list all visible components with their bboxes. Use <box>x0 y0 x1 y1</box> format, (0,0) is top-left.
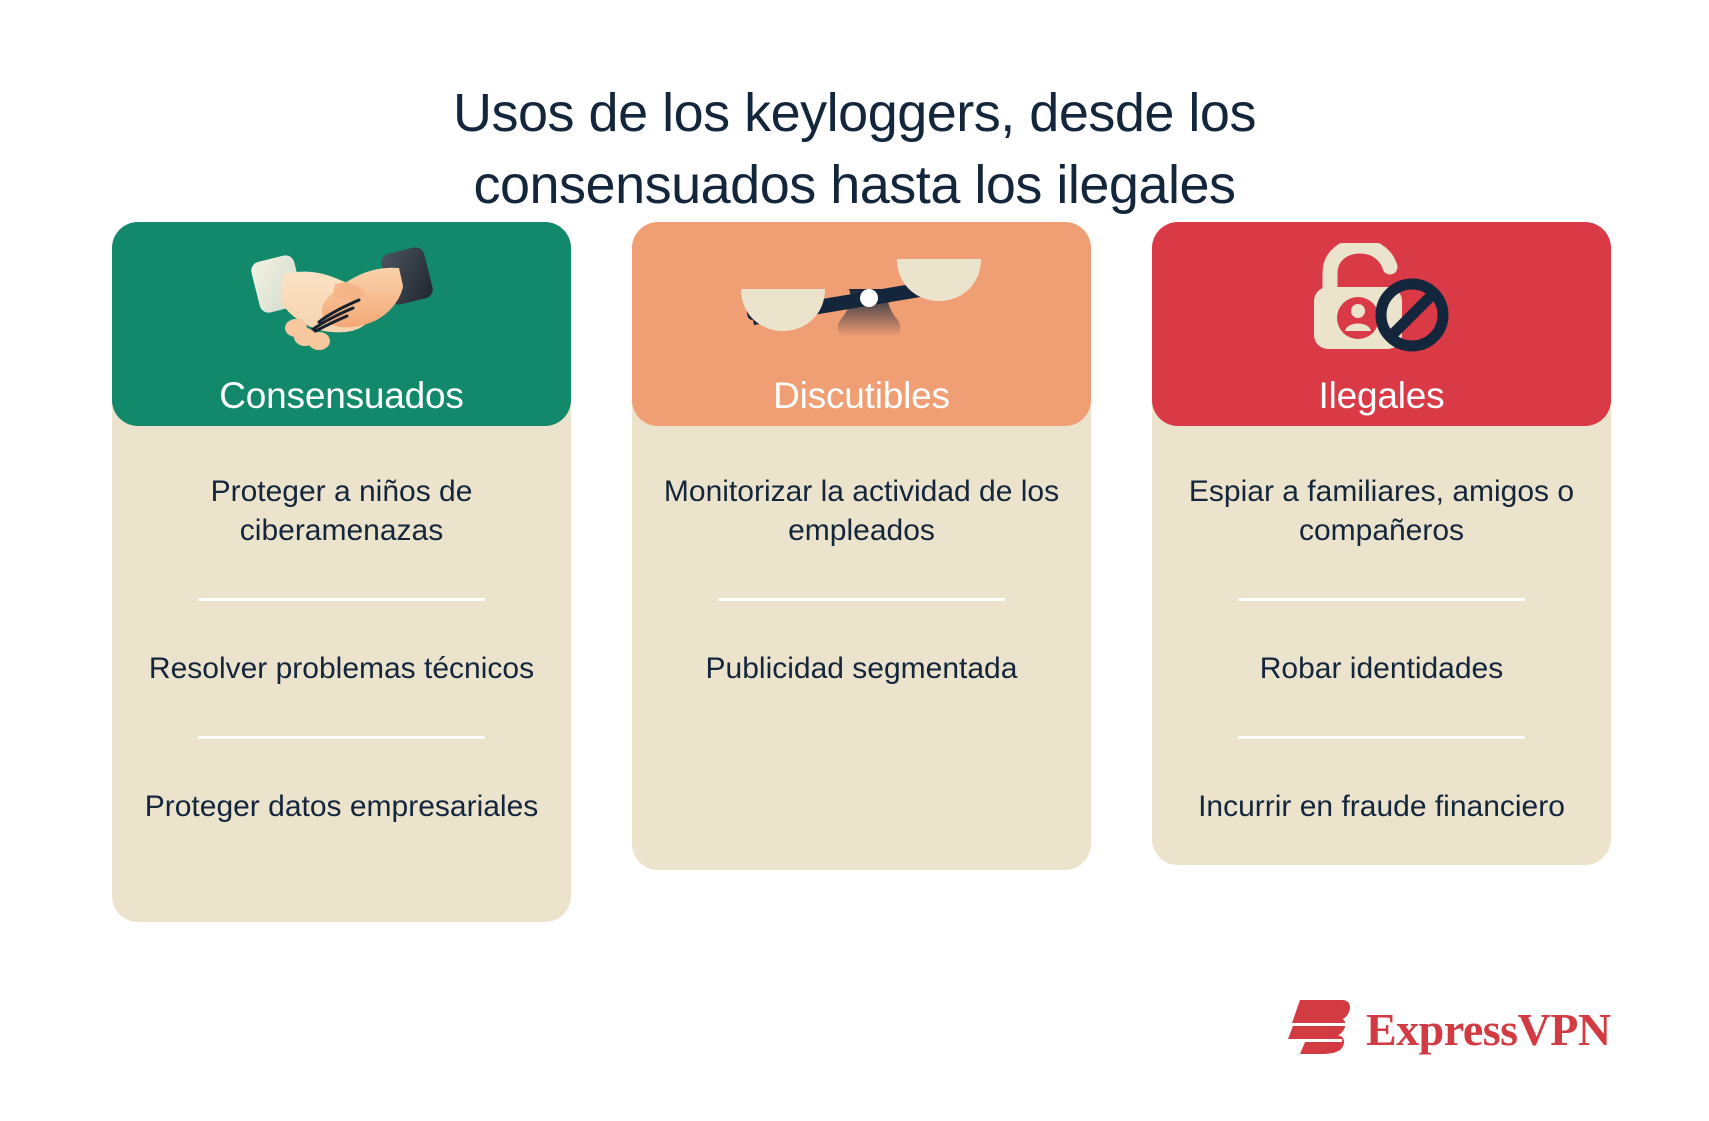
card-ilegales: Ilegales Espiar a familiares, amigos o c… <box>1152 222 1611 942</box>
card-list-discutibles: Monitorizar la actividad de los empleado… <box>632 468 1091 692</box>
unbalanced-scale-icon <box>632 240 1091 358</box>
card-header-ilegales: Ilegales <box>1152 222 1611 426</box>
card-consensuados: Consensuados Proteger a niños de ciberam… <box>112 222 571 942</box>
list-item: Espiar a familiares, amigos o compañeros <box>1180 468 1583 554</box>
cards-container: Consensuados Proteger a niños de ciberam… <box>112 222 1612 942</box>
expressvpn-e-mark-icon <box>1286 998 1352 1061</box>
card-header-discutibles: Discutibles <box>632 222 1091 426</box>
list-divider <box>198 736 485 739</box>
list-item: Proteger a niños de ciberamenazas <box>140 468 543 554</box>
list-divider <box>718 598 1005 601</box>
card-header-consensuados: Consensuados <box>112 222 571 426</box>
card-title-ilegales: Ilegales <box>1319 377 1445 414</box>
list-item: Robar identidades <box>1180 645 1583 692</box>
card-discutibles: Discutibles Monitorizar la actividad de … <box>632 222 1091 942</box>
expressvpn-logo: ExpressVPN <box>1286 998 1611 1061</box>
list-item: Incurrir en fraude financiero <box>1180 783 1583 830</box>
page-title: Usos de los keyloggers, desde los consen… <box>0 78 1709 222</box>
card-list-ilegales: Espiar a familiares, amigos o compañeros… <box>1152 468 1611 830</box>
list-divider <box>1238 736 1525 739</box>
card-list-consensuados: Proteger a niños de ciberamenazas Resolv… <box>112 468 571 830</box>
unlocked-padlock-prohibited-icon <box>1152 240 1611 358</box>
expressvpn-wordmark: ExpressVPN <box>1366 1007 1611 1053</box>
list-item: Monitorizar la actividad de los empleado… <box>660 468 1063 554</box>
list-divider <box>198 598 485 601</box>
list-divider <box>1238 598 1525 601</box>
list-item: Proteger datos empresariales <box>140 783 543 830</box>
card-title-consensuados: Consensuados <box>219 377 463 414</box>
list-item: Publicidad segmentada <box>660 645 1063 692</box>
page-title-line-1: Usos de los keyloggers, desde los <box>0 78 1709 150</box>
page-title-line-2: consensuados hasta los ilegales <box>0 150 1709 222</box>
infographic-root: Usos de los keyloggers, desde los consen… <box>0 0 1709 1121</box>
list-item: Resolver problemas técnicos <box>140 645 543 692</box>
handshake-icon <box>112 240 571 358</box>
card-title-discutibles: Discutibles <box>773 377 950 414</box>
